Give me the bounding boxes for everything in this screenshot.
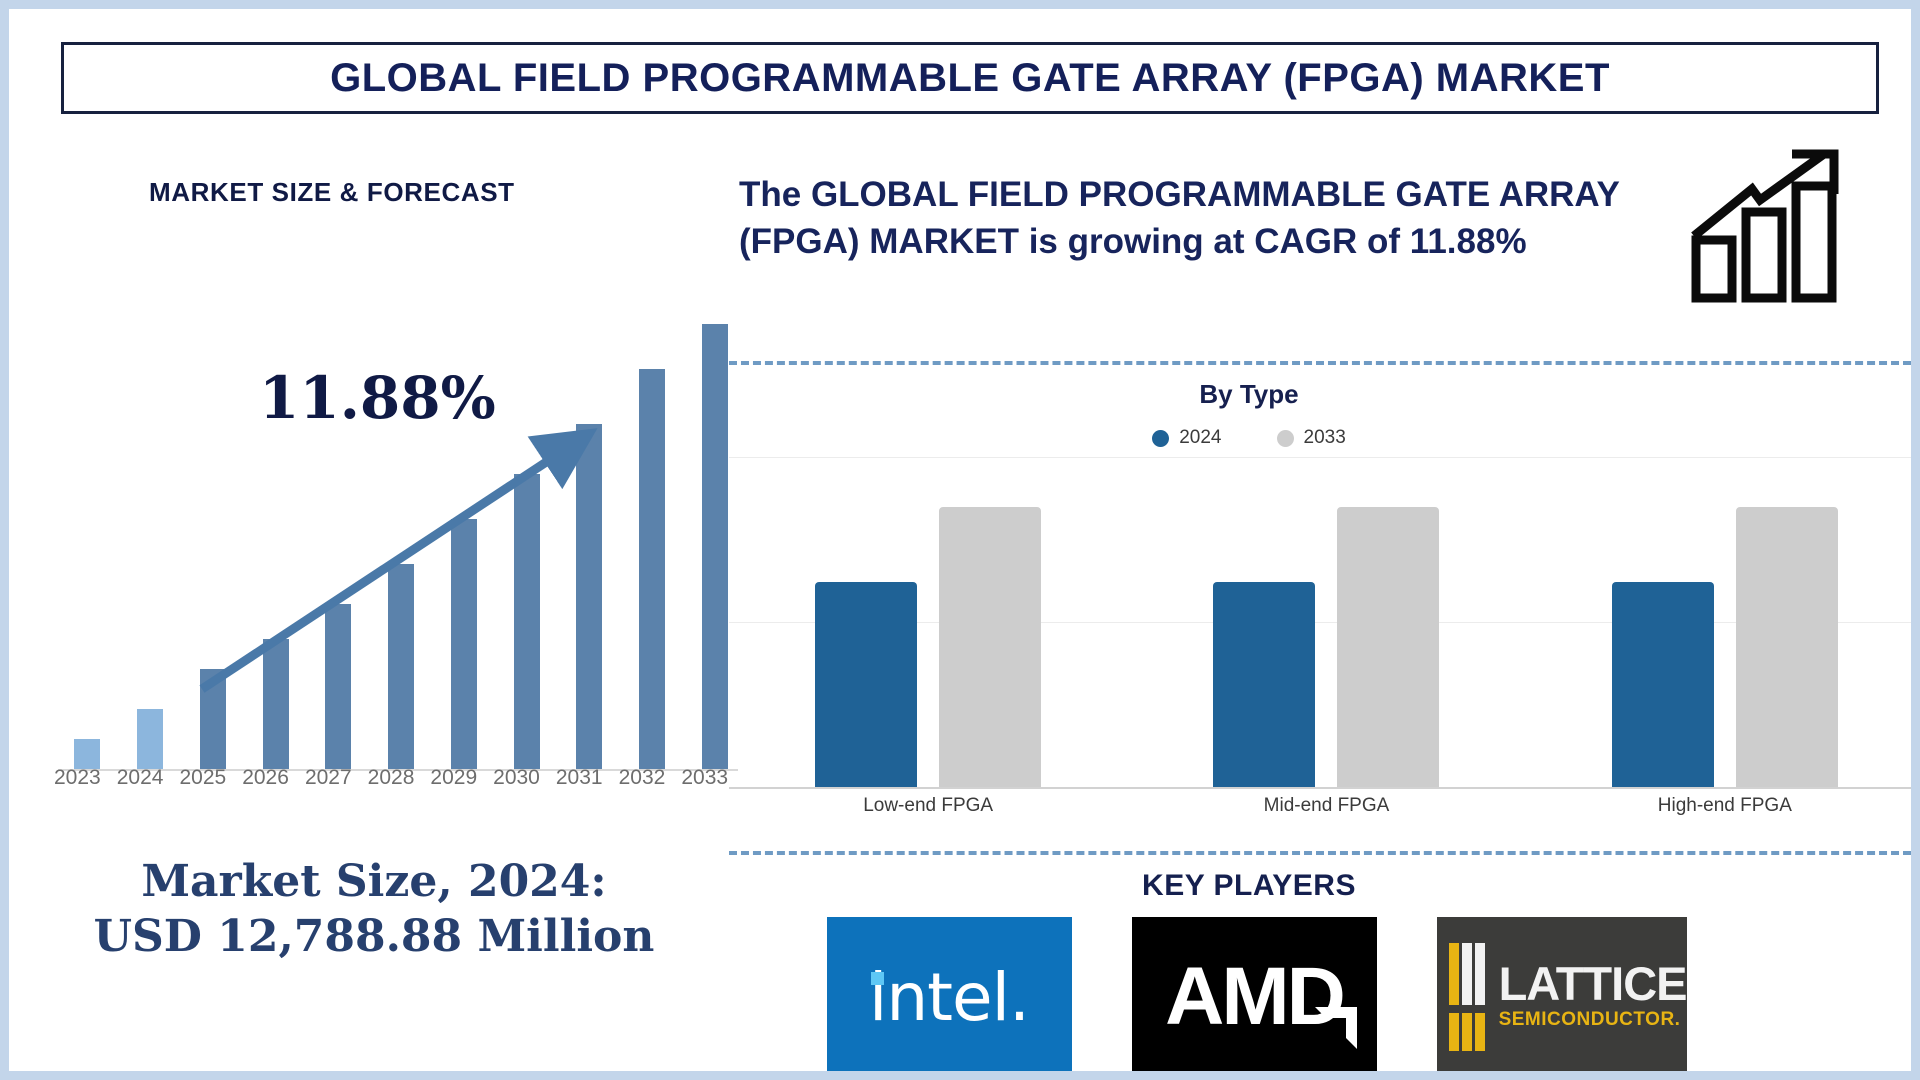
forecast-bar bbox=[74, 739, 100, 769]
forecast-year-label: 2024 bbox=[109, 766, 172, 790]
forecast-year-label: 2033 bbox=[673, 766, 736, 790]
forecast-year-label: 2032 bbox=[611, 766, 674, 790]
market-size-label-line2: USD 12,788.88 Million bbox=[9, 909, 739, 964]
forecast-bar-slot bbox=[119, 269, 182, 769]
legend-dot-icon bbox=[1152, 430, 1169, 447]
lattice-logo-subtext: SEMICONDUCTOR. bbox=[1499, 1007, 1687, 1034]
forecast-bar bbox=[263, 639, 289, 769]
page-title: GLOBAL FIELD PROGRAMMABLE GATE ARRAY (FP… bbox=[330, 56, 1610, 101]
growth-headline: The GLOBAL FIELD PROGRAMMABLE GATE ARRAY… bbox=[739, 172, 1699, 265]
by-type-bar-group bbox=[1213, 457, 1439, 787]
forecast-bar bbox=[200, 669, 226, 769]
key-players-title: KEY PLAYERS bbox=[729, 869, 1769, 903]
intel-dot-icon bbox=[871, 972, 884, 985]
legend-dot-icon bbox=[1277, 430, 1294, 447]
forecast-bar-slot bbox=[558, 269, 621, 769]
by-type-bar-2024 bbox=[815, 582, 917, 787]
by-type-bar-2024 bbox=[1612, 582, 1714, 787]
lattice-bars-icon bbox=[1449, 943, 1493, 1051]
forecast-year-axis: 2023202420252026202720282029203020312032… bbox=[46, 766, 736, 790]
right-panel: The GLOBAL FIELD PROGRAMMABLE GATE ARRAY… bbox=[729, 139, 1919, 1080]
legend-label: 2033 bbox=[1304, 427, 1346, 449]
forecast-bar-slot bbox=[56, 269, 119, 769]
amd-arrow-mark-icon bbox=[1313, 1005, 1359, 1051]
page-title-box: GLOBAL FIELD PROGRAMMABLE GATE ARRAY (FP… bbox=[61, 42, 1879, 114]
intel-logo-text: intel bbox=[869, 959, 1009, 1036]
by-type-bar-2033 bbox=[1337, 507, 1439, 788]
market-size-heading: MARKET SIZE & FORECAST bbox=[149, 177, 515, 208]
forecast-bar bbox=[639, 369, 665, 769]
by-type-category-axis: Low-end FPGAMid-end FPGAHigh-end FPGA bbox=[729, 795, 1920, 817]
forecast-bar-slot bbox=[432, 269, 495, 769]
legend-item-2024[interactable]: 2024 bbox=[1152, 427, 1221, 449]
forecast-year-label: 2025 bbox=[171, 766, 234, 790]
market-size-forecast-panel: MARKET SIZE & FORECAST 11.88% 2023202420… bbox=[9, 139, 739, 1080]
by-type-legend: 20242033 bbox=[729, 427, 1769, 449]
by-type-category-label: Mid-end FPGA bbox=[1211, 795, 1441, 817]
forecast-year-label: 2029 bbox=[422, 766, 485, 790]
forecast-bar bbox=[514, 474, 540, 769]
by-type-bar-2033 bbox=[939, 507, 1041, 788]
by-type-chart: Low-end FPGAMid-end FPGAHigh-end FPGA bbox=[729, 457, 1920, 857]
legend-label: 2024 bbox=[1179, 427, 1221, 449]
forecast-bar-slot bbox=[495, 269, 558, 769]
by-type-bar-group bbox=[815, 457, 1041, 787]
key-players-logos: intel. AMD LATTICE bbox=[729, 917, 1784, 1077]
by-type-bar-groups bbox=[729, 457, 1920, 787]
lattice-logo-text: LATTICE bbox=[1499, 960, 1687, 1007]
logo-lattice-semiconductor: LATTICE SEMICONDUCTOR. bbox=[1437, 917, 1687, 1077]
forecast-year-label: 2030 bbox=[485, 766, 548, 790]
by-type-bar-2033 bbox=[1736, 507, 1838, 788]
forecast-bar-slot bbox=[181, 269, 244, 769]
forecast-bar bbox=[388, 564, 414, 769]
forecast-bar bbox=[451, 519, 477, 769]
logo-amd: AMD bbox=[1132, 917, 1377, 1077]
divider-bottom bbox=[729, 851, 1911, 855]
logo-intel: intel. bbox=[827, 917, 1072, 1077]
legend-item-2033[interactable]: 2033 bbox=[1277, 427, 1346, 449]
by-type-bar-2024 bbox=[1213, 582, 1315, 787]
forecast-bar bbox=[576, 424, 602, 769]
forecast-bar-slot bbox=[307, 269, 370, 769]
infographic-page: GLOBAL FIELD PROGRAMMABLE GATE ARRAY (FP… bbox=[0, 0, 1920, 1080]
divider-top bbox=[729, 361, 1911, 365]
forecast-year-label: 2028 bbox=[360, 766, 423, 790]
intel-wordmark: intel. bbox=[869, 959, 1029, 1036]
by-type-axis-line bbox=[729, 787, 1920, 789]
forecast-year-label: 2031 bbox=[548, 766, 611, 790]
forecast-bar-slot bbox=[621, 269, 684, 769]
intel-logo-period: . bbox=[1009, 959, 1029, 1036]
by-type-category-label: High-end FPGA bbox=[1610, 795, 1840, 817]
forecast-bar-slot bbox=[370, 269, 433, 769]
forecast-bar-slot bbox=[244, 269, 307, 769]
by-type-title: By Type bbox=[729, 379, 1769, 410]
forecast-plot-area bbox=[44, 259, 724, 769]
forecast-year-label: 2023 bbox=[46, 766, 109, 790]
market-size-label-line1: Market Size, 2024: bbox=[9, 854, 739, 909]
market-size-value: Market Size, 2024: USD 12,788.88 Million bbox=[9, 854, 739, 964]
lattice-wordmark: LATTICE SEMICONDUCTOR. bbox=[1499, 960, 1687, 1034]
forecast-bar bbox=[702, 324, 728, 769]
by-type-category-label: Low-end FPGA bbox=[813, 795, 1043, 817]
forecast-year-label: 2027 bbox=[297, 766, 360, 790]
growth-arrow-bars-icon bbox=[1684, 144, 1869, 304]
forecast-bar-group bbox=[56, 269, 746, 769]
forecast-bar bbox=[137, 709, 163, 769]
by-type-bar-group bbox=[1612, 457, 1838, 787]
forecast-bar bbox=[325, 604, 351, 769]
market-size-forecast-chart: 2023202420252026202720282029203020312032… bbox=[34, 259, 724, 799]
forecast-year-label: 2026 bbox=[234, 766, 297, 790]
